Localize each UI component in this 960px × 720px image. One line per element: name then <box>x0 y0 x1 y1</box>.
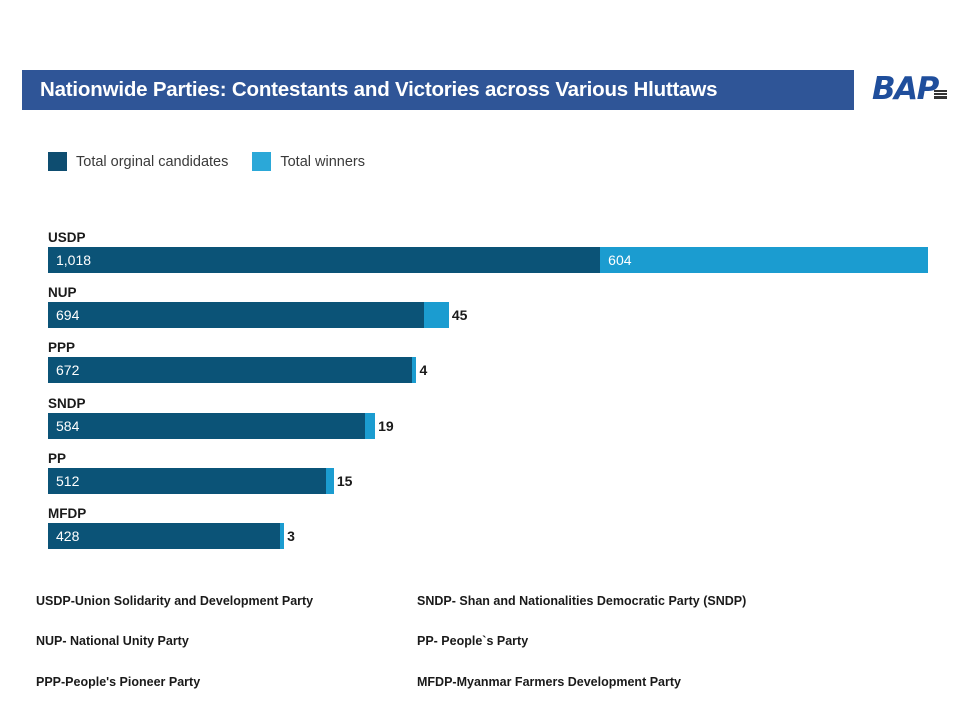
bar-group-pp: PP51215 <box>48 449 334 494</box>
bar-value-candidates: 672 <box>56 357 79 383</box>
bar-segment-candidates[interactable]: 1,018 <box>48 247 600 273</box>
bar-group-mfdp: MFDP4283 <box>48 504 284 549</box>
bar-row[interactable]: 4283 <box>48 523 284 549</box>
bar-category-label: PP <box>48 449 334 468</box>
bar-segment-candidates[interactable]: 672 <box>48 357 412 383</box>
bar-row[interactable]: 6724 <box>48 357 416 383</box>
bar-chart: USDP1,018604NUP69445PPP6724SNDP58419PP51… <box>0 0 960 720</box>
footnote-usdp: USDP-Union Solidarity and Development Pa… <box>36 594 313 608</box>
bar-segment-candidates[interactable]: 428 <box>48 523 280 549</box>
footnote-ppp: PPP-People's Pioneer Party <box>36 675 200 689</box>
bar-category-label: NUP <box>48 283 449 302</box>
bar-value-candidates: 1,018 <box>56 247 91 273</box>
bar-segment-winners[interactable] <box>412 357 416 383</box>
bar-row[interactable]: 51215 <box>48 468 334 494</box>
bar-row[interactable]: 58419 <box>48 413 375 439</box>
bar-value-winners: 15 <box>337 468 353 494</box>
bar-value-candidates: 512 <box>56 468 79 494</box>
bar-segment-winners[interactable] <box>280 523 284 549</box>
bar-value-winners: 4 <box>419 357 427 383</box>
bar-category-label: PPP <box>48 338 416 357</box>
bar-row[interactable]: 69445 <box>48 302 449 328</box>
footnote-sndp: SNDP- Shan and Nationalities Democratic … <box>417 594 746 608</box>
bar-value-winners: 3 <box>287 523 295 549</box>
bar-segment-winners[interactable] <box>365 413 375 439</box>
bar-segment-candidates[interactable]: 584 <box>48 413 365 439</box>
footnote-nup: NUP- National Unity Party <box>36 634 189 648</box>
bar-row[interactable]: 1,018604 <box>48 247 928 273</box>
bar-value-winners: 604 <box>608 247 631 273</box>
bar-value-winners: 19 <box>378 413 394 439</box>
bar-segment-candidates[interactable]: 512 <box>48 468 326 494</box>
bar-group-sndp: SNDP58419 <box>48 394 375 439</box>
bar-value-candidates: 584 <box>56 413 79 439</box>
slide-root: Nationwide Parties: Contestants and Vict… <box>0 0 960 720</box>
bar-value-winners: 45 <box>452 302 468 328</box>
bar-group-nup: NUP69445 <box>48 283 449 328</box>
bar-category-label: MFDP <box>48 504 284 523</box>
bar-segment-winners[interactable] <box>600 247 928 273</box>
bar-segment-winners[interactable] <box>326 468 334 494</box>
bar-segment-candidates[interactable]: 694 <box>48 302 424 328</box>
bar-category-label: USDP <box>48 228 928 247</box>
bar-segment-winners[interactable] <box>424 302 448 328</box>
footnote-mfdp: MFDP-Myanmar Farmers Development Party <box>417 675 681 689</box>
bar-group-usdp: USDP1,018604 <box>48 228 928 273</box>
bar-category-label: SNDP <box>48 394 375 413</box>
bar-value-candidates: 428 <box>56 523 79 549</box>
footnote-pp: PP- People`s Party <box>417 634 528 648</box>
bar-value-candidates: 694 <box>56 302 79 328</box>
bar-group-ppp: PPP6724 <box>48 338 416 383</box>
